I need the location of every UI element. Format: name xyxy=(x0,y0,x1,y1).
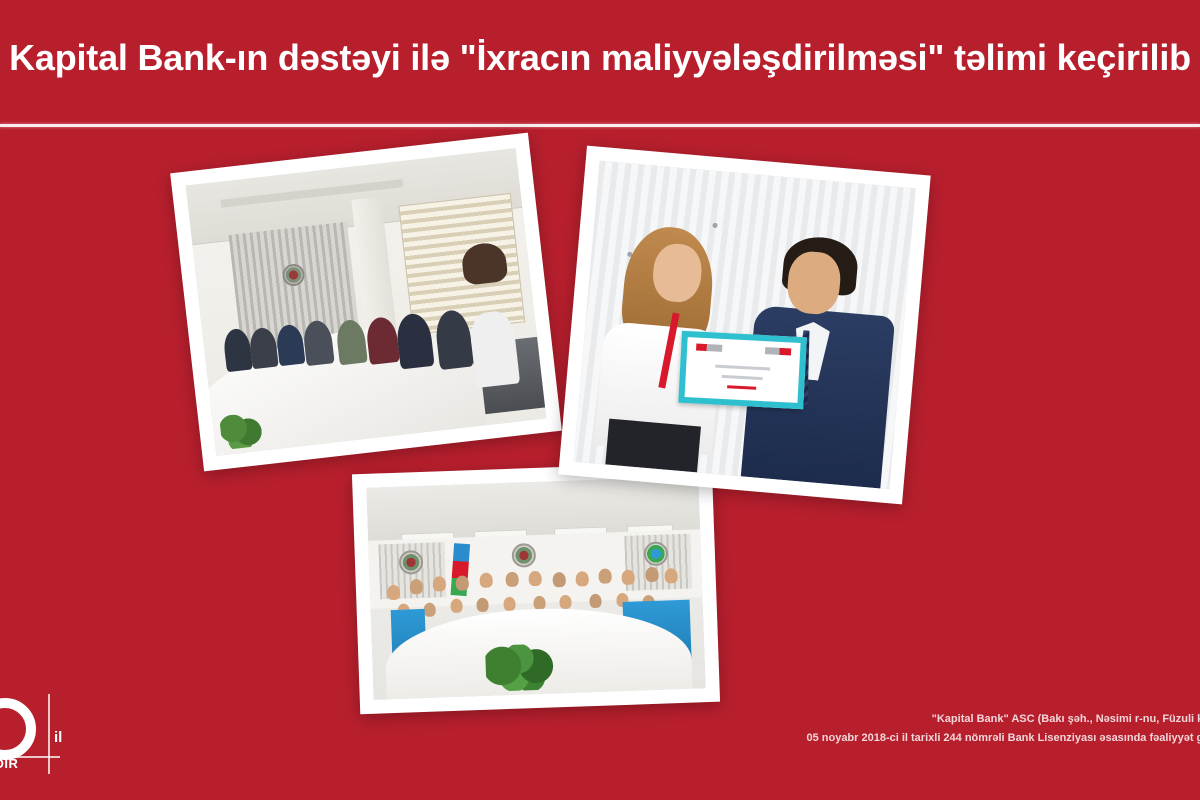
organization-emblem-icon xyxy=(643,541,668,566)
participant xyxy=(456,575,470,590)
legal-disclaimer: "Kapital Bank" ASC (Bakı şəh., Nəsimi r-… xyxy=(690,710,1200,749)
logo-horizontal-rule xyxy=(14,756,60,758)
disclaimer-line-2: 05 noyabr 2018-ci il tarixli 244 nömrəli… xyxy=(690,729,1200,748)
plant-decor xyxy=(219,411,265,450)
certificate-logo-right-icon xyxy=(765,347,791,355)
participant-front-row xyxy=(450,599,462,613)
participant xyxy=(409,579,423,594)
participant xyxy=(622,570,636,585)
photo-collage xyxy=(0,0,1200,800)
participant-front-row xyxy=(424,602,436,616)
ring-logo-icon xyxy=(0,698,36,760)
woman-skirt xyxy=(605,419,701,473)
photo-certificate[interactable] xyxy=(558,146,930,505)
participant xyxy=(575,571,589,586)
certificate-document xyxy=(679,331,808,409)
participant xyxy=(386,584,400,599)
photo-group[interactable] xyxy=(352,462,720,714)
participant xyxy=(665,568,679,583)
logo-vertical-rule xyxy=(48,694,50,774)
participant xyxy=(645,567,659,582)
participant-front-row xyxy=(589,594,601,608)
watermark-logo: il ÖCDIR xyxy=(0,694,94,786)
plant-decor xyxy=(485,643,561,692)
participant xyxy=(598,568,612,583)
photo-meeting-room-image xyxy=(186,148,547,456)
watermark-text: ÖCDIR xyxy=(0,756,18,771)
participant xyxy=(506,572,520,587)
certificate-text-line xyxy=(722,375,763,380)
watermark-letter: il xyxy=(54,730,62,745)
state-emblem-icon xyxy=(398,550,423,575)
participant xyxy=(552,572,566,587)
participant xyxy=(479,573,493,588)
certificate-logo-left-icon xyxy=(696,344,722,352)
certificate-text-line xyxy=(716,365,770,371)
photo-certificate-image xyxy=(573,161,915,489)
photo-group-image xyxy=(366,476,705,699)
disclaimer-line-1: "Kapital Bank" ASC (Bakı şəh., Nəsimi r-… xyxy=(690,710,1200,729)
participant xyxy=(433,576,447,591)
photo-meeting-room[interactable] xyxy=(170,133,562,472)
participant xyxy=(529,571,543,586)
certificate-signature-line xyxy=(727,385,756,390)
banner-stage: Kapital Bank-ın dəstəyi ilə "İxracın mal… xyxy=(0,0,1200,800)
